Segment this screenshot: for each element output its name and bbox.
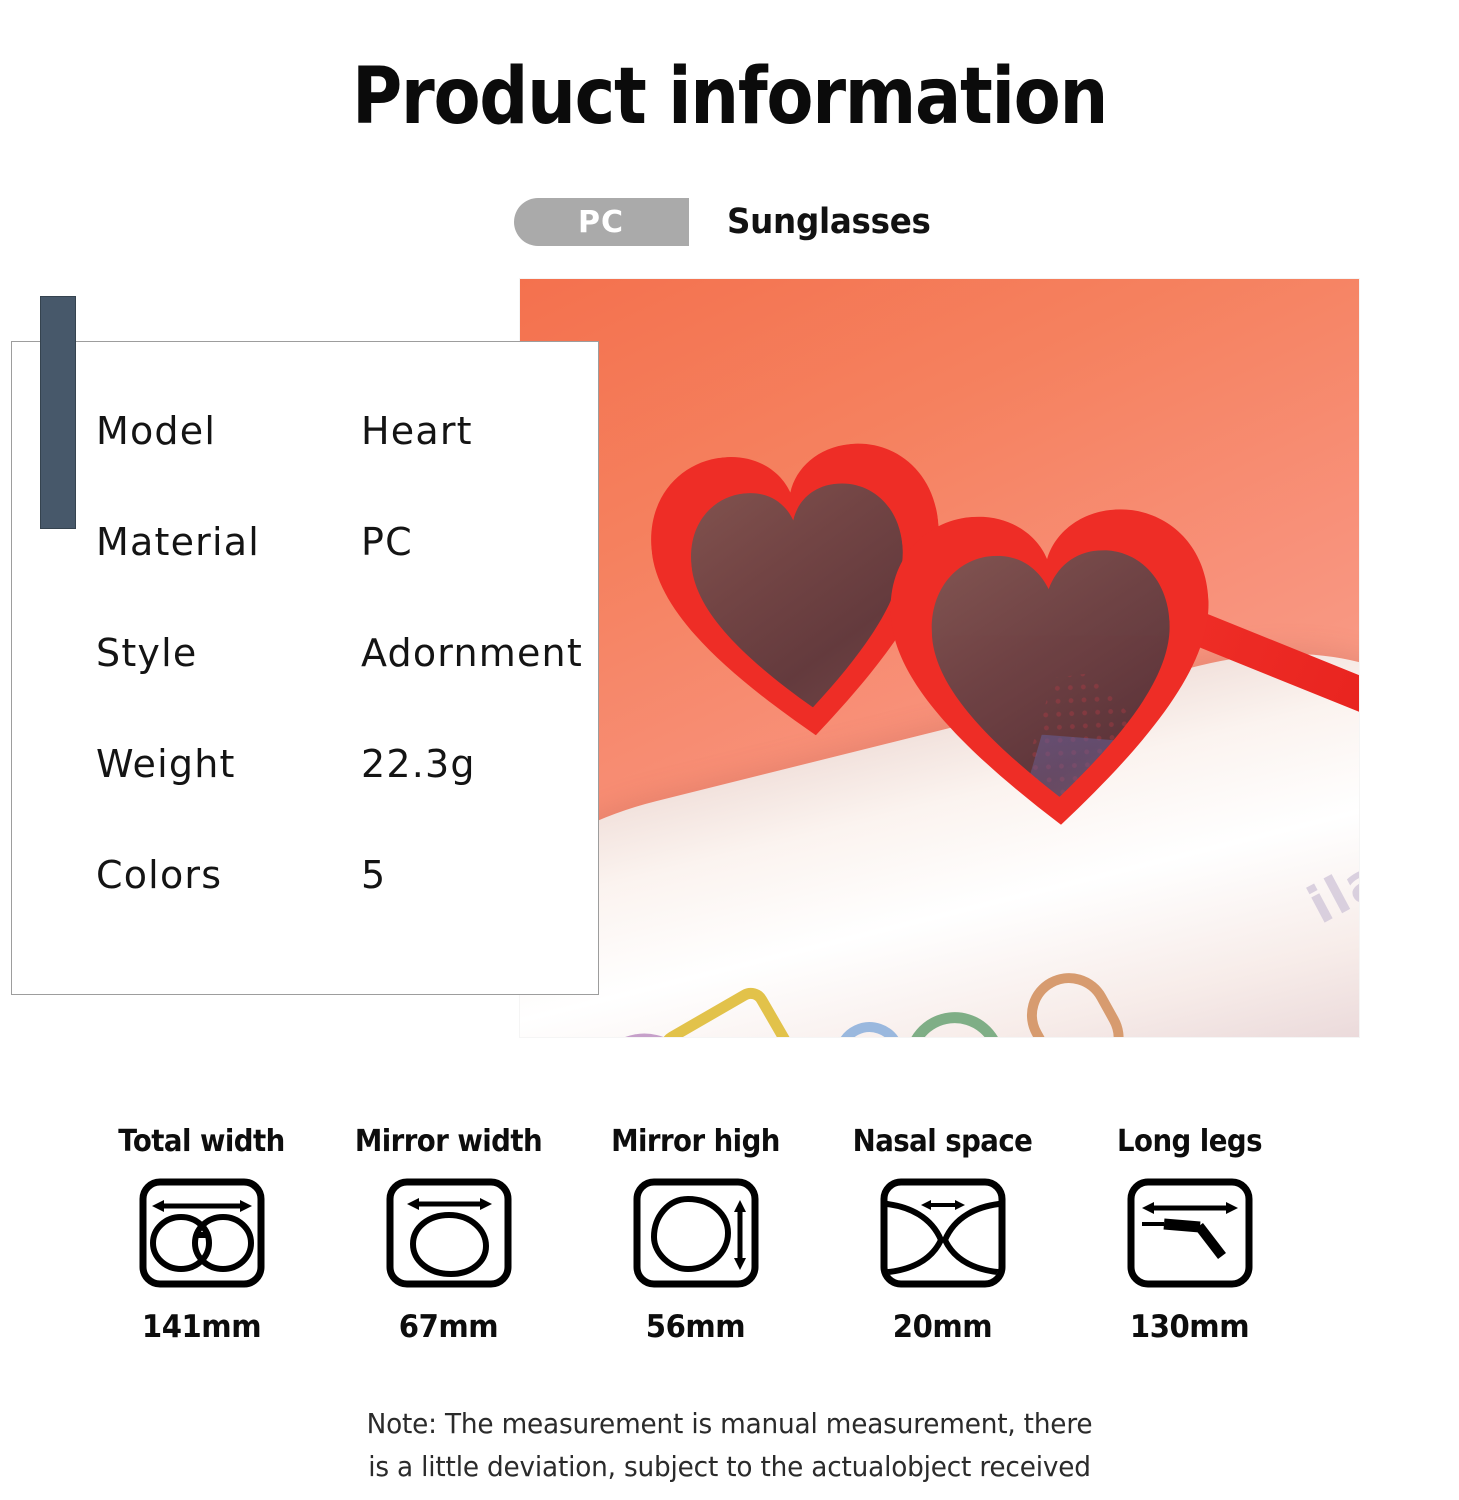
measurement-title: Long legs bbox=[1076, 1124, 1303, 1159]
page-title: Product information bbox=[88, 58, 1372, 136]
spec-value: PC bbox=[361, 523, 413, 561]
product-category-label: Sunglasses bbox=[727, 202, 931, 242]
long-legs-icon bbox=[1126, 1177, 1254, 1289]
spec-row-weight: Weight 22.3g bbox=[96, 745, 583, 856]
note-line-2: is a little deviation, subject to the ac… bbox=[44, 1445, 1415, 1488]
measurement-mirror-width: Mirror width 67mm bbox=[325, 1124, 572, 1345]
magazine-graphic bbox=[823, 1010, 917, 1037]
spec-row-material: Material PC bbox=[96, 523, 583, 634]
measurement-title: Mirror high bbox=[582, 1124, 809, 1159]
lens-tint bbox=[924, 543, 1183, 804]
magazine-graphic bbox=[887, 995, 1036, 1037]
subtitle-row: PC Sunglasses bbox=[0, 198, 1459, 246]
measurement-title: Nasal space bbox=[829, 1124, 1056, 1159]
spec-label: Weight bbox=[96, 745, 361, 783]
measurement-value: 141mm bbox=[85, 1309, 317, 1345]
magazine-graphic bbox=[653, 981, 805, 1037]
sunglasses-right-lens bbox=[880, 499, 1227, 846]
measurement-nasal-space: Nasal space 20mm bbox=[819, 1124, 1066, 1345]
measurement-value: 67mm bbox=[332, 1309, 564, 1345]
spec-value: 5 bbox=[361, 856, 386, 894]
material-badge: PC bbox=[514, 198, 689, 246]
measurement-total-width: Total width 141mm bbox=[78, 1124, 325, 1345]
spec-panel: Model Heart Material PC Style Adornment … bbox=[11, 341, 599, 995]
spec-label: Style bbox=[96, 634, 361, 672]
spec-label: Colors bbox=[96, 856, 361, 894]
spec-table: Model Heart Material PC Style Adornment … bbox=[96, 412, 583, 967]
total-width-icon bbox=[138, 1177, 266, 1289]
spec-row-model: Model Heart bbox=[96, 412, 583, 523]
magazine-graphic bbox=[1012, 958, 1139, 1037]
note-line-1: Note: The measurement is manual measurem… bbox=[44, 1402, 1415, 1445]
measurement-note: Note: The measurement is manual measurem… bbox=[0, 1402, 1459, 1489]
spec-value: Heart bbox=[361, 412, 473, 450]
measurement-title: Mirror width bbox=[335, 1124, 562, 1159]
measurements-row: Total width 141mm Mirror width 67mm Mirr… bbox=[78, 1124, 1368, 1345]
spec-label: Material bbox=[96, 523, 361, 561]
spec-accent-bar bbox=[40, 296, 76, 529]
measurement-value: 130mm bbox=[1073, 1309, 1305, 1345]
nasal-space-icon bbox=[879, 1177, 1007, 1289]
measurement-value: 56mm bbox=[579, 1309, 811, 1345]
product-photo: ilab ws bbox=[520, 279, 1359, 1037]
spec-row-style: Style Adornment bbox=[96, 634, 583, 745]
spec-label: Model bbox=[96, 412, 361, 450]
measurement-long-legs: Long legs 130mm bbox=[1066, 1124, 1313, 1345]
measurement-title: Total width bbox=[88, 1124, 315, 1159]
spec-row-colors: Colors 5 bbox=[96, 856, 583, 967]
mirror-width-icon bbox=[385, 1177, 513, 1289]
measurement-value: 20mm bbox=[826, 1309, 1058, 1345]
mirror-high-icon bbox=[632, 1177, 760, 1289]
spec-value: Adornment bbox=[361, 634, 583, 672]
measurement-mirror-high: Mirror high 56mm bbox=[572, 1124, 819, 1345]
magazine-text: ilab bbox=[1299, 829, 1359, 936]
spec-value: 22.3g bbox=[361, 745, 476, 783]
